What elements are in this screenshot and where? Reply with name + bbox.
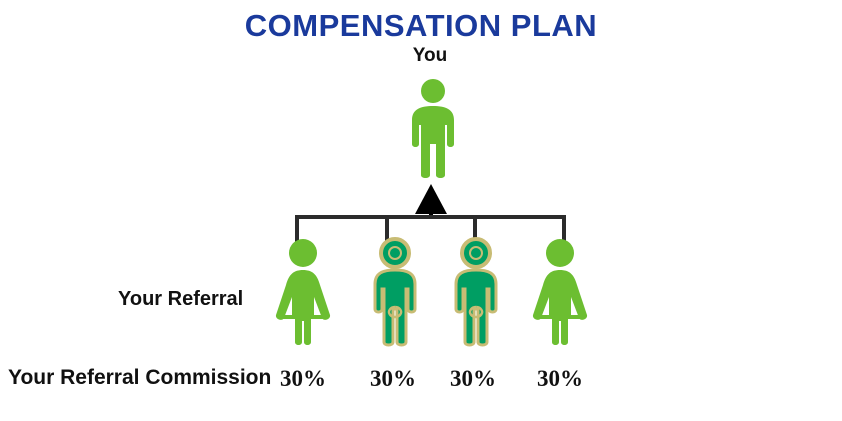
row-label-your-referral-commission: Your Referral Commission xyxy=(8,366,271,390)
commission-value-1: 30% xyxy=(268,366,338,392)
connector-horizontal-bar xyxy=(295,215,566,219)
page-title: COMPENSATION PLAN xyxy=(0,8,842,44)
commission-value-3: 30% xyxy=(438,366,508,392)
person-male-icon-referral-2 xyxy=(362,237,428,347)
person-female-icon-referral-1 xyxy=(270,237,336,347)
commission-value-2: 30% xyxy=(358,366,428,392)
person-male-icon-you xyxy=(404,78,462,180)
person-female-icon-referral-4 xyxy=(527,237,593,347)
row-label-your-referral: Your Referral xyxy=(118,288,243,311)
compensation-plan-diagram: COMPENSATION PLAN You xyxy=(0,0,842,421)
root-node-label: You xyxy=(385,45,475,67)
commission-value-4: 30% xyxy=(525,366,595,392)
person-male-icon-referral-3 xyxy=(443,237,509,347)
